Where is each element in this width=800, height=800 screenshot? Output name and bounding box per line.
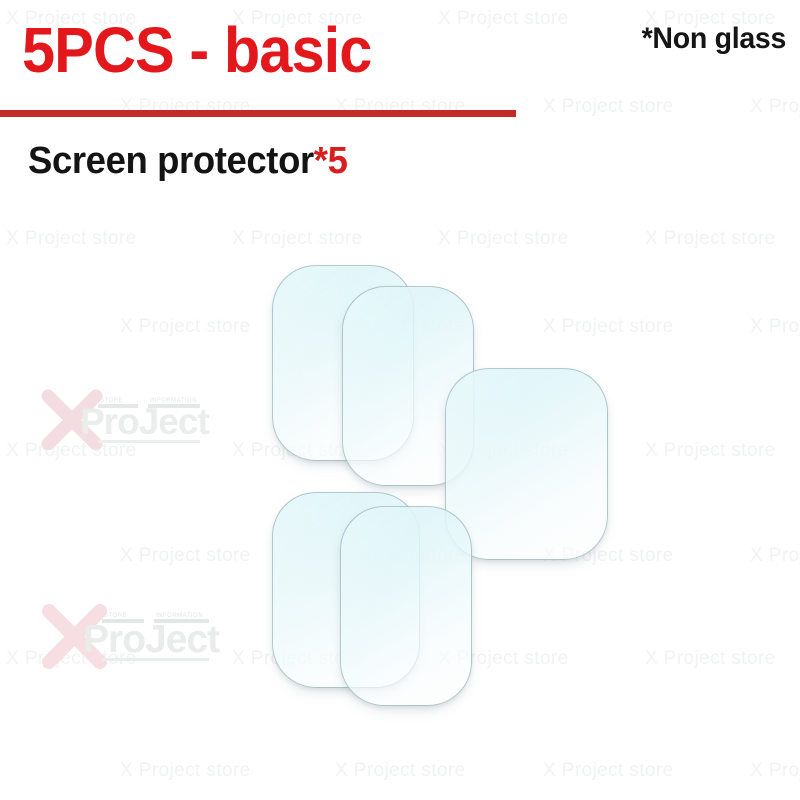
- material-badge: *Non glass: [642, 22, 786, 56]
- product-subtitle: Screen protector*5: [28, 140, 348, 183]
- product-image-canvas: X Project storeX Project storeX Project …: [0, 0, 800, 800]
- page-title: 5PCS - basic: [22, 18, 371, 82]
- title-divider: [0, 110, 516, 117]
- subtitle-main-text: Screen protector: [28, 140, 314, 182]
- text-layer: 5PCS - basic *Non glass Screen protector…: [0, 0, 800, 800]
- subtitle-quantity-accent: *5: [314, 140, 348, 182]
